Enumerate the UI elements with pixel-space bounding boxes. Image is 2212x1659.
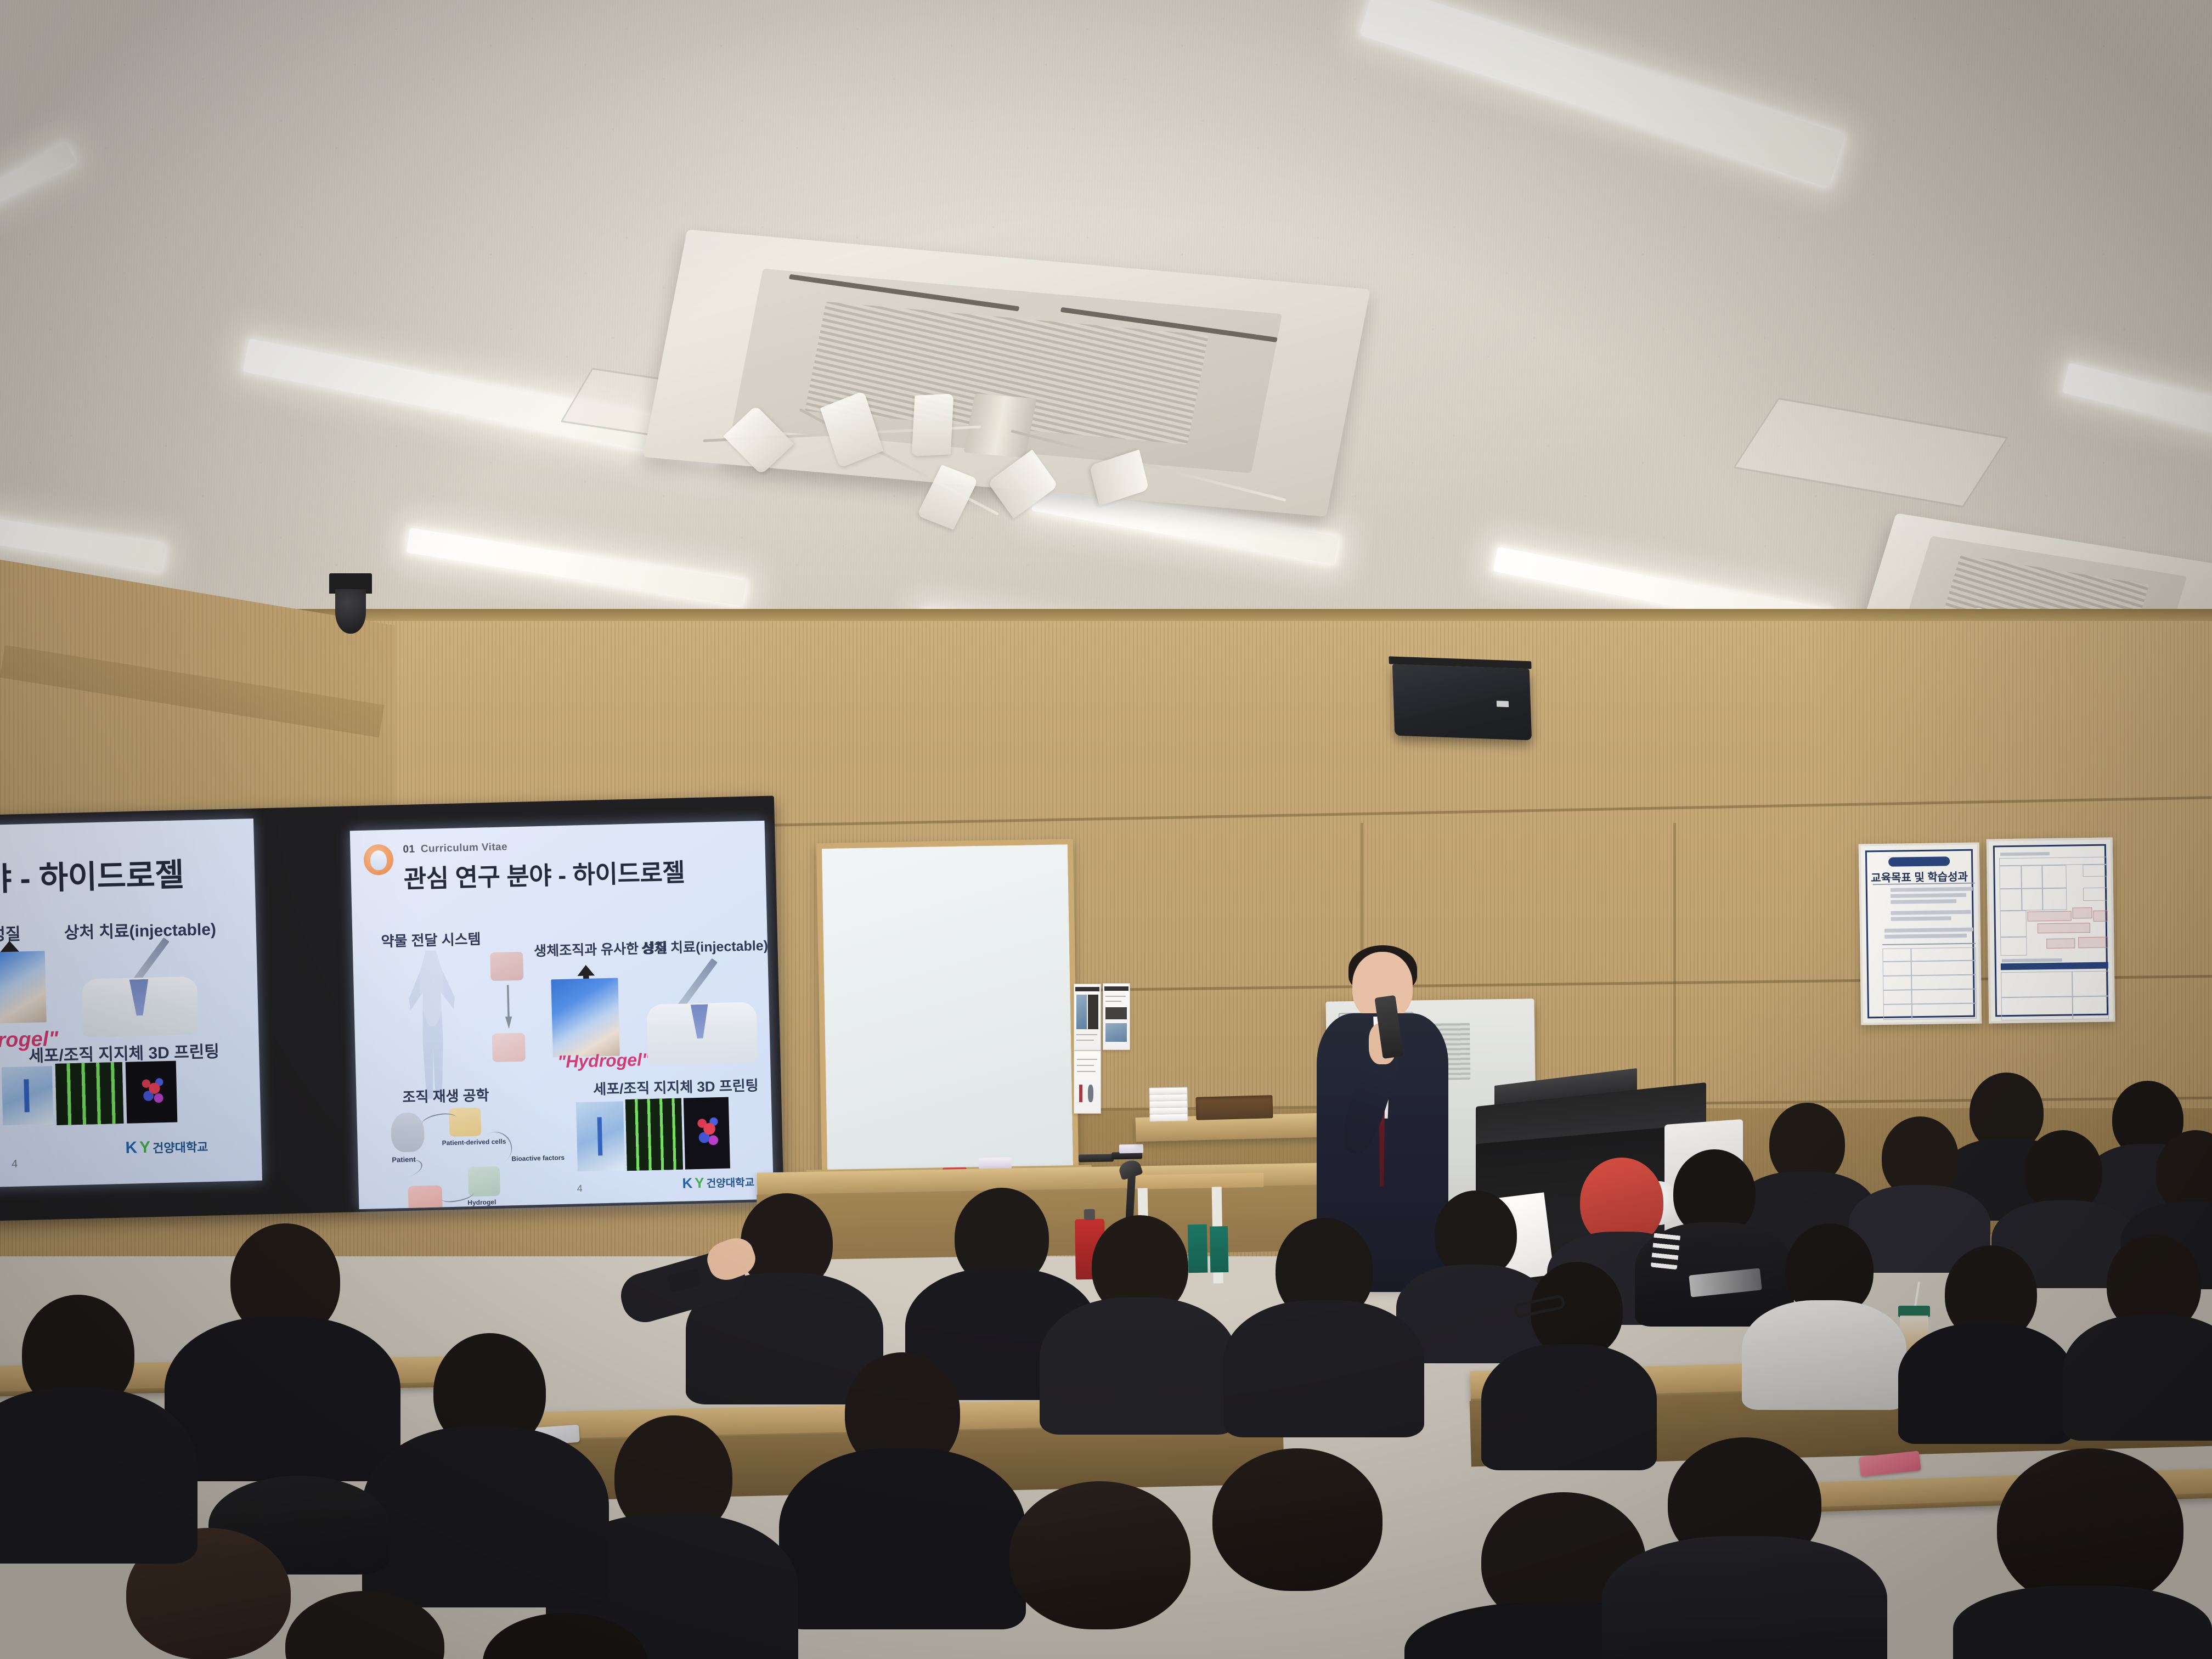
audience-shoulders [1953,1585,2212,1659]
poster-subtitle [2000,852,2050,856]
poster-table-cell [1911,989,1976,1005]
audience-head-long-hair [1009,1481,1190,1629]
poster-table-cell [1911,961,1976,976]
table-top [1126,1173,1263,1189]
curriculum-cell-highlight [2038,923,2090,933]
hydrogel-photo [551,978,619,1057]
cycle-label-factors: Bioactive factors [511,1154,565,1163]
slide-title: 관심 연구 분야 - 하이드로젤 [403,852,685,894]
poster-badge [1888,856,1950,867]
poster-table-cell [1911,975,1976,990]
cycle-label-hydrogel: Hydrogel [467,1198,496,1206]
micrograph-1 [576,1101,625,1171]
cycle-arrow [475,1126,518,1169]
logo-letter-y: Y [695,1175,704,1192]
instruction-poster-left [1074,984,1101,1051]
curriculum-cell [2073,996,2109,1020]
wooden-tray [1195,1095,1273,1120]
whiteboard-marker-black[interactable] [1079,1154,1114,1162]
poster-text-line [1077,1059,1097,1060]
poster-band [2001,962,2108,970]
safety-poster [1074,1051,1101,1114]
logo-university-name: 건양대학교 [706,1175,754,1190]
audience-head-long-hair [1997,1448,2183,1607]
audience-shoulders [1898,1323,2074,1444]
poster-image [1105,1007,1127,1019]
poster-inner-frame [1993,844,2108,1017]
label-wound-heal: 상처 치료(injectable) [641,935,769,958]
wall-seam-vertical [1673,823,1676,1108]
curriculum-cell-highlight [2028,911,2072,921]
logo-letter-y: Y [139,1138,151,1157]
security-camera-icon [329,573,372,634]
left-micrograph-1 [2,1066,54,1125]
poster-table-cell [1883,961,1911,976]
drug-capsule-icon [490,952,523,981]
front-ledge-face [757,1184,1361,1260]
left-micrograph-2 [55,1062,124,1125]
left-slide-title-partial: 관심 연구 분야 - 하이드로젤 [0,849,184,904]
curriculum-cell [2022,888,2043,911]
poster-table-cell [1912,1003,1977,1020]
paper-cup [1149,1113,1188,1121]
poster-subtitle [2002,958,2062,963]
main-projection-screen: 01Curriculum Vitae 관심 연구 분야 - 하이드로젤 약물 전… [350,821,774,1209]
curriculum-cell [2083,888,2107,901]
audience-head-long-hair [1212,1448,1383,1591]
book-green [1210,1226,1228,1273]
poster-header-bar [1104,986,1128,991]
curriculum-cell-highlight [2078,937,2108,949]
slide-header: 01Curriculum Vitae 관심 연구 분야 - 하이드로젤 [363,837,685,895]
curriculum-cell [2072,971,2109,997]
left-university-logo: K Y 건양대학교 [125,1137,208,1158]
curriculum-cell [2000,911,2027,938]
left-label-bioprinting: 세포/조직 지지체 3D 프린팅 [29,1038,220,1066]
curriculum-cell-highlight [2046,938,2075,949]
logo-letter-k: K [125,1138,137,1158]
audience-shoulders [1040,1297,1237,1435]
left-slide-page-number: 4 [12,1158,18,1171]
curriculum-cell [2083,865,2107,877]
curriculum-cell [2042,888,2067,911]
curriculum-cell-highlight [2093,911,2108,922]
label-drug-delivery: 약물 전달 시스템 [381,928,481,951]
book-green [1188,1224,1208,1273]
poster-text-line [1077,1065,1094,1066]
poster-header-bar [1075,987,1099,991]
logo-letter-k: K [682,1175,693,1192]
audience-shoulders [0,1388,198,1564]
poster-text-line [1105,1001,1121,1002]
arrow-down-icon [502,985,515,1029]
hydrant-pictogram [1088,1085,1093,1102]
poster-text-line [1077,1071,1096,1072]
whiteboard-eraser[interactable] [979,1157,1012,1169]
audience-shoulders [165,1317,400,1481]
audience-shoulders [1481,1344,1657,1470]
curriculum-cell-highlight [2072,907,2092,919]
audience-shoulders [779,1448,1026,1629]
curriculum-cell [2000,889,2022,911]
poster-table-cell [1911,947,1976,962]
instruction-poster-right [1103,983,1130,1050]
poster-table-cell [1883,990,1911,1005]
poster-text-line [1076,1034,1097,1035]
university-logo: K Y 건양대학교 [682,1173,754,1192]
label-bioprinting: 세포/조직 지지체 3D 프린팅 [593,1074,759,1098]
cycle-node-graft [408,1185,443,1209]
audience-shoulders-leather [1602,1536,1887,1659]
poster-text-block [1884,928,1973,933]
lightbulb-icon [363,844,393,875]
poster-image [1105,1023,1127,1042]
varsity-jacket-stripe [1651,1232,1680,1270]
cycle-label-cells: Patient-derived cells [442,1138,506,1147]
poster-rule [1882,943,1976,945]
poster-text-block [1884,934,1967,939]
cycle-label-patient: Patient [392,1155,416,1164]
poster-image [1076,995,1087,1029]
curriculum-cell [2021,865,2042,889]
left-hydrogel-photo [0,951,47,1025]
paper-cup-stack [1149,1087,1188,1127]
slide-kicker-text: Curriculum Vitae [421,841,508,855]
poster-text-block [1891,910,1971,915]
hydrogel-word: "Hydrogel" [557,1049,651,1072]
micrograph-3 [684,1097,730,1170]
poster-text-block [1891,899,1956,904]
audience-shoulders [1223,1300,1424,1437]
audience-shoulders-hoodie [1742,1300,1906,1410]
poster-image [1088,995,1098,1029]
slide-kicker-number: 01 [403,843,415,855]
poster-inner-frame: 교육목표 및 학습성과 [1865,849,1975,1019]
poster-text-block [1891,916,1951,921]
audience-shoulders-cap [362,1426,609,1607]
curriculum-cell [1999,866,2022,889]
fire-extinguisher-pictogram [1079,1085,1083,1102]
speaker-brand-badge [1496,701,1509,707]
drug-capsule-icon-2 [492,1033,526,1062]
curriculum-cell [2000,937,2027,956]
lecture-hall-photo: 관심 연구 분야 - 하이드로젤 생체조직과 유사한 성질 상처 치료(inje… [0,0,2212,1659]
curriculum-cell [2001,971,2073,997]
label-tissue-engineering: 조직 재생 공학 [402,1084,489,1107]
slide-page-number: 4 [577,1183,583,1194]
micrograph-2 [625,1098,683,1171]
poster-text-line [1105,996,1126,997]
patient-head-illustration [391,1112,425,1152]
circulator-blade [912,394,954,456]
human-body-illustration [399,950,466,1099]
poster-table-cell [1883,975,1911,990]
logo-university-name: 건양대학교 [153,1137,208,1156]
poster-curriculum-map [1987,837,2115,1023]
left-label-wound-heal: 상처 치료(injectable) [64,916,216,944]
whiteboard[interactable] [816,839,1079,1176]
poster-text-block [1891,893,1966,898]
poster-education-objectives: 교육목표 및 학습성과 [1859,842,1982,1025]
wall-speaker-icon [1392,664,1532,741]
whiteboard-eraser-2[interactable] [1119,1144,1143,1154]
curriculum-cell [2001,996,2073,1020]
poster-table-cell [1883,1004,1912,1020]
curriculum-cell [2042,865,2067,889]
poster-text-block [1891,887,1973,892]
left-micrograph-3 [126,1061,178,1124]
camera-dome [335,589,366,634]
audience-shoulders [2063,1314,2212,1441]
poster-table-cell [1882,948,1911,962]
poster-text-line [1076,1040,1094,1041]
left-projection-screen: 관심 연구 분야 - 하이드로젤 생체조직과 유사한 성질 상처 치료(inje… [0,819,262,1187]
